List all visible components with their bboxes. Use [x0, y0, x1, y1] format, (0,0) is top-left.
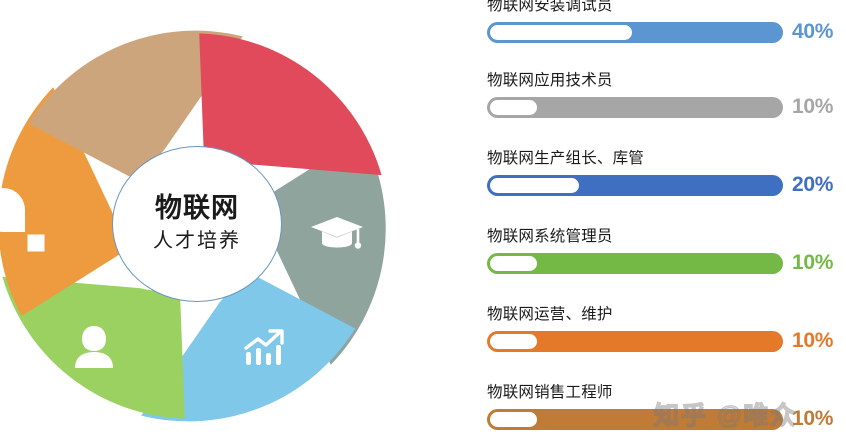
bar-label: 物联网生产组长、库管 [487, 150, 846, 167]
bar-track[interactable] [487, 97, 783, 118]
bar-label: 物联网运营、维护 [487, 306, 846, 323]
bar-label: 物联网销售工程师 [487, 384, 846, 401]
bar-knob [490, 25, 632, 40]
bar-knob [490, 334, 537, 349]
bar-line: 20% [487, 173, 846, 197]
bar-track[interactable] [487, 22, 783, 43]
bar-line: 40% [487, 20, 846, 44]
bar-percent: 40% [792, 20, 833, 44]
bar-row: 物联网系统管理员 10% [487, 228, 846, 275]
bar-row: 物联网生产组长、库管 20% [487, 150, 846, 197]
bar-percent: 10% [792, 251, 833, 275]
center-subtitle: 人才培养 [153, 228, 241, 255]
bar-line: 10% [487, 251, 846, 275]
bar-label: 物联网系统管理员 [487, 228, 846, 245]
bar-row: 物联网运营、维护 10% [487, 306, 846, 353]
bar-line: 10% [487, 407, 846, 431]
bar-row: 物联网应用技术员 10% [487, 72, 846, 119]
infographic-root: 物联网 人才培养 物联网安装调试员 40% 物联网应用技术员 10% [0, 0, 846, 446]
bar-row: 物联网销售工程师 10% [487, 384, 846, 431]
bar-knob [490, 178, 579, 193]
donut-center-label: 物联网 人才培养 [112, 146, 282, 302]
bar-percent: 10% [792, 407, 833, 431]
donut-diagram-panel: 物联网 人才培养 [0, 0, 480, 446]
bar-line: 10% [487, 329, 846, 353]
bar-percent: 10% [792, 95, 833, 119]
progress-bar-list: 物联网安装调试员 40% 物联网应用技术员 10% 物联网生产组长、库管 [487, 0, 846, 446]
center-title: 物联网 [155, 193, 239, 224]
bar-label: 物联网安装调试员 [487, 0, 846, 14]
bar-percent: 10% [792, 329, 833, 353]
bar-knob [490, 256, 537, 271]
bar-knob [490, 100, 537, 115]
bar-track[interactable] [487, 331, 783, 352]
bar-row: 物联网安装调试员 40% [487, 0, 846, 44]
bar-percent: 20% [792, 173, 833, 197]
bar-label: 物联网应用技术员 [487, 72, 846, 89]
bar-knob [490, 412, 537, 427]
bar-track[interactable] [487, 175, 783, 196]
bar-track[interactable] [487, 253, 783, 274]
bar-track[interactable] [487, 409, 783, 430]
bar-line: 10% [487, 95, 846, 119]
